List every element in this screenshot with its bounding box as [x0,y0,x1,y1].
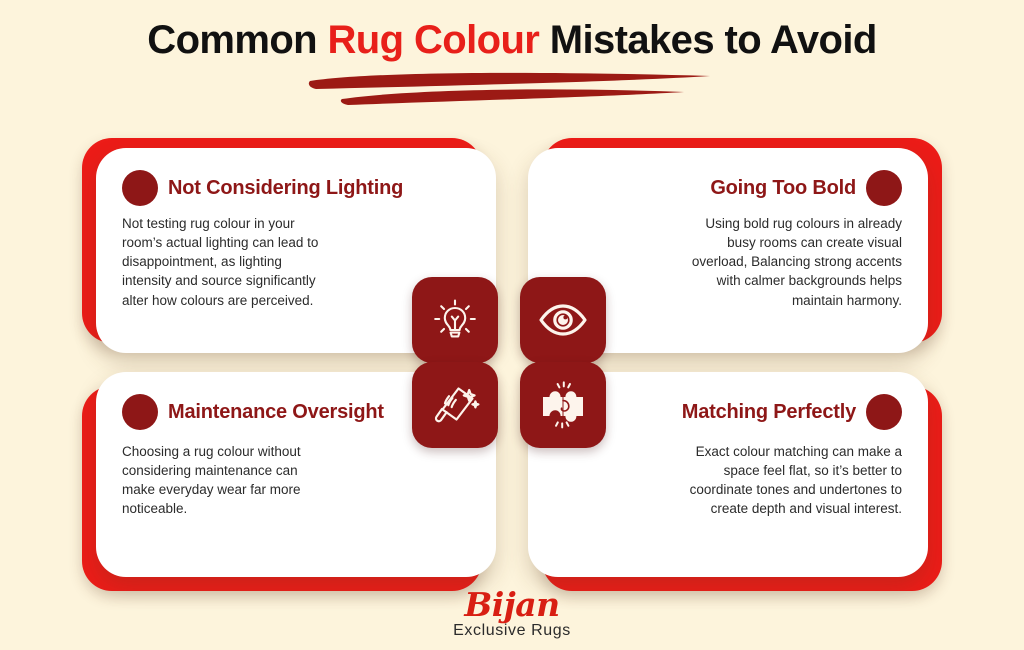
title-section: Common Rug Colour Mistakes to Avoid [0,0,1024,63]
logo-brand-name: Bijan [0,588,1024,621]
bullet-dot-icon [866,170,902,206]
card-body-text: Choosing a rug colour without considerin… [122,442,334,519]
card-body-text: Not testing rug colour in your room’s ac… [122,214,334,310]
puzzle-pieces-icon [535,377,591,433]
card-title: Going Too Bold [710,177,856,200]
double-brush-stroke-underline-icon [302,67,722,107]
card-body-text: Using bold rug colours in already busy r… [684,214,902,310]
card-not-considering-lighting[interactable]: Not Considering Lighting Not testing rug… [96,148,496,353]
card-panel: Going Too Bold Using bold rug colours in… [528,148,928,353]
bullet-dot-icon [122,170,158,206]
page-title-accent: Rug Colour [328,18,540,62]
card-icon-tile [520,277,606,363]
card-body-text: Exact colour matching can make a space f… [684,442,902,519]
cleaning-hand-icon [428,378,482,432]
cards-grid: Not Considering Lighting Not testing rug… [0,140,1024,580]
card-panel: Maintenance Oversight Choosing a rug col… [96,372,496,577]
eye-icon [536,293,590,347]
page-title-prefix: Common [147,18,327,62]
card-going-too-bold[interactable]: Going Too Bold Using bold rug colours in… [528,148,928,353]
card-matching-perfectly[interactable]: Matching Perfectly Exact colour matching… [528,372,928,577]
card-icon-tile [412,362,498,448]
logo-tagline: Exclusive Rugs [0,622,1024,640]
page-title: Common Rug Colour Mistakes to Avoid [0,18,1024,63]
card-title: Matching Perfectly [682,401,856,424]
card-icon-tile [520,362,606,448]
card-icon-tile [412,277,498,363]
card-header: Matching Perfectly [682,394,902,430]
card-panel: Matching Perfectly Exact colour matching… [528,372,928,577]
title-underline [0,67,1024,109]
bullet-dot-icon [122,394,158,430]
bullet-dot-icon [866,394,902,430]
card-title: Maintenance Oversight [168,401,384,424]
card-header: Not Considering Lighting [122,170,403,206]
lightbulb-icon [430,295,480,345]
card-maintenance-oversight[interactable]: Maintenance Oversight Choosing a rug col… [96,372,496,577]
page-title-suffix: Mistakes to Avoid [539,18,876,62]
brand-logo: Bijan Exclusive Rugs [0,588,1024,640]
card-panel: Not Considering Lighting Not testing rug… [96,148,496,353]
card-header: Maintenance Oversight [122,394,384,430]
card-title: Not Considering Lighting [168,177,403,200]
card-header: Going Too Bold [710,170,902,206]
